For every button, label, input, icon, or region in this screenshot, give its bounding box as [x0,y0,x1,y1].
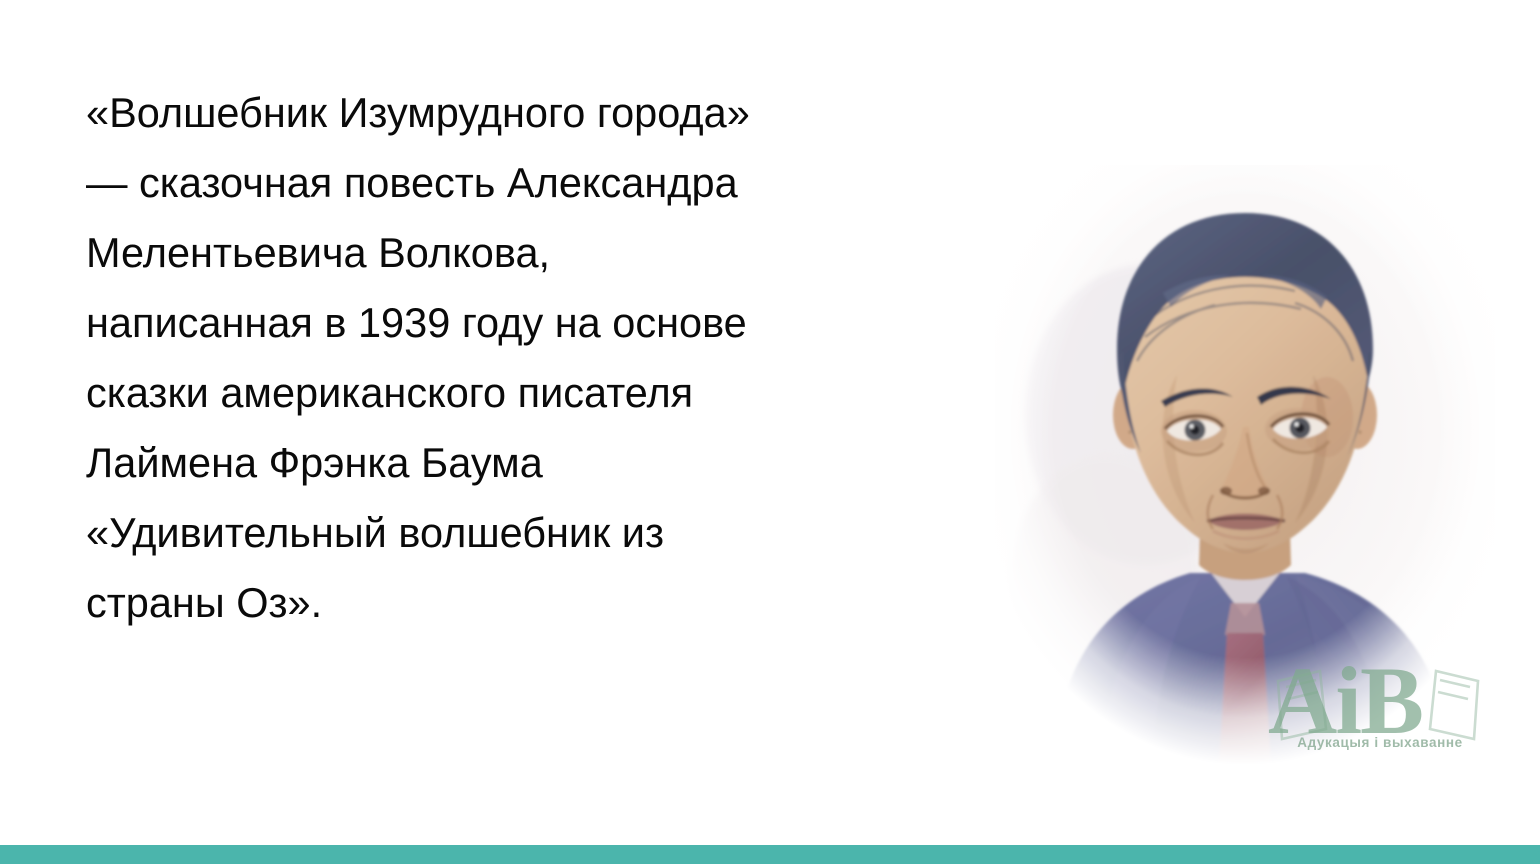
body-text-line: написанная в 1939 году на основе [86,288,946,358]
presentation-slide: «Волшебник Изумрудного города» — сказочн… [0,0,1540,864]
body-text-block: «Волшебник Изумрудного города» — сказочн… [86,78,946,638]
portrait-image [995,165,1495,765]
body-text-line: страны Оз». [86,568,946,638]
body-text-line: «Удивительный волшебник из [86,498,946,568]
body-text-line: «Волшебник Изумрудного города» [86,78,946,148]
body-text-line: — сказочная повесть Александра [86,148,946,218]
body-text-line: сказки американского писателя [86,358,946,428]
body-text-line: Мелентьевича Волкова, [86,218,946,288]
body-text-line: Лаймена Фрэнка Баума [86,428,946,498]
bottom-accent-bar [0,845,1540,864]
